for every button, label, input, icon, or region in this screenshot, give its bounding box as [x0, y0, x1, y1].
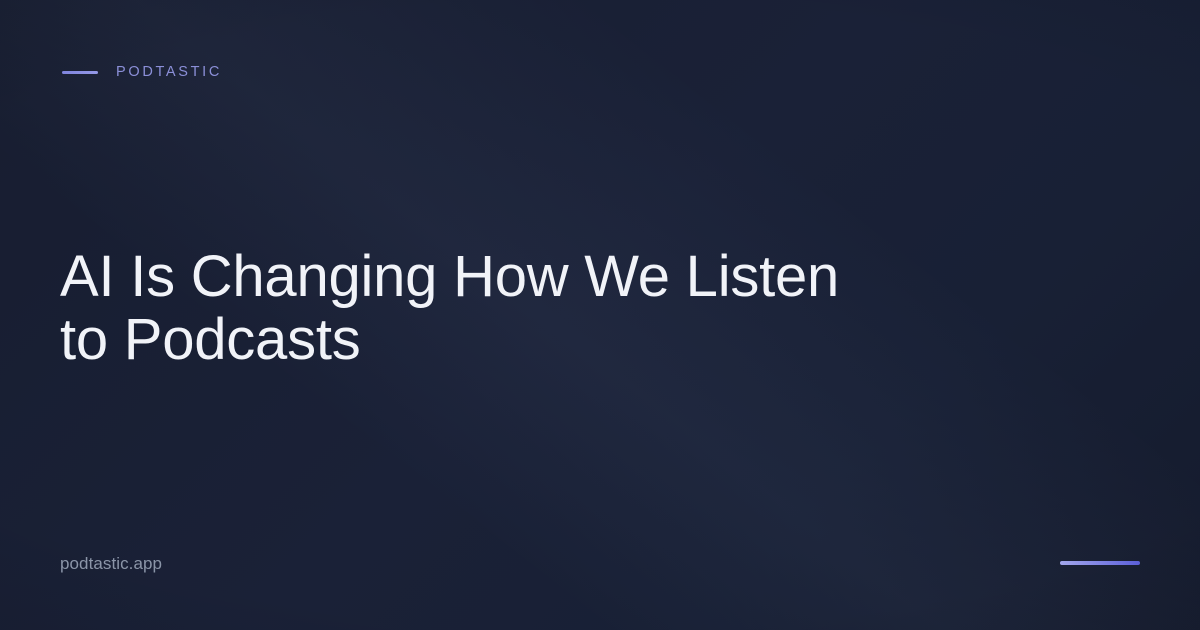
horizontal-dash-icon [62, 71, 98, 74]
footer: podtastic.app [60, 552, 1140, 574]
share-card: PODTASTIC AI Is Changing How We Listen t… [0, 0, 1200, 630]
brand-lockup: PODTASTIC [62, 62, 222, 82]
page-title: AI Is Changing How We Listen to Podcasts [60, 246, 890, 372]
accent-bar [1060, 561, 1140, 565]
brand-name: PODTASTIC [116, 65, 222, 80]
site-url: podtastic.app [60, 555, 162, 572]
